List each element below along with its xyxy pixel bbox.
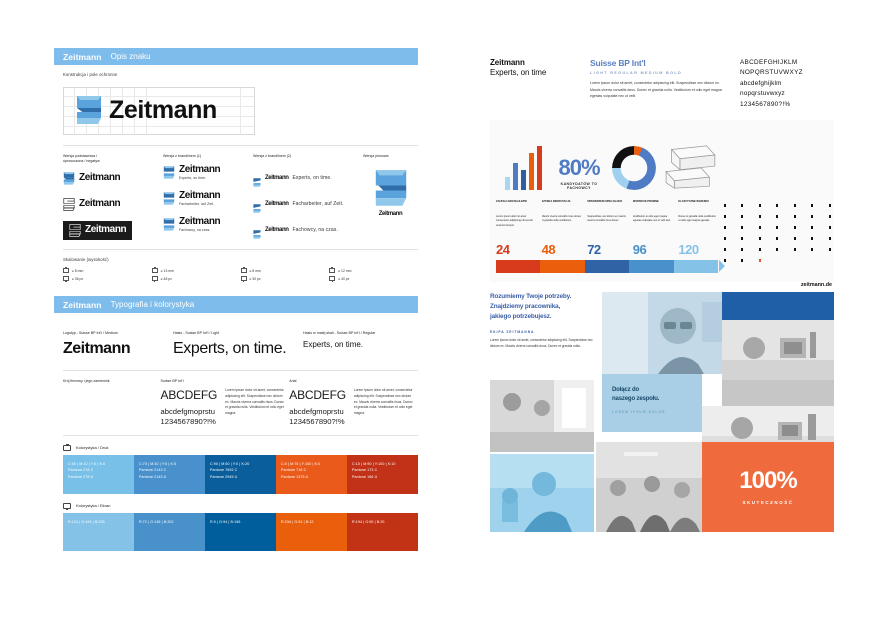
scaling-item: ≥ 12 mm ≥ 40 px [329, 268, 418, 284]
scaling-screen-value: ≥ 48 px [161, 277, 172, 281]
right-brand-block: Zeitmann Experts, on time [490, 58, 590, 120]
color-swatch-row-print: C:50 | M:10 | Y:0 | K:0 Pantone 278 C Pa… [63, 455, 418, 494]
cta-tile-join-team[interactable]: Dołącz do naszego zespołu. LOREM IPSUM D… [602, 374, 702, 432]
left-sheet: Zeitmann Opis znaku Konstrukcja i pole o… [54, 48, 418, 548]
swatch-rgb: R:72 | G:145 | B:202 [139, 519, 174, 526]
swatch-pantone-c: Pantone 173 C [352, 467, 413, 474]
swatch-pantone-u: Pantone 2143 U [139, 474, 200, 481]
z-mark-icon [163, 192, 175, 205]
z-mark-icon [163, 166, 175, 179]
band-title: Typografia i kolorystyka [111, 300, 195, 309]
brandline-tagline: Fachowcy, na czas. [179, 228, 220, 232]
swatch-pantone-u: Pantone 166 U [352, 474, 413, 481]
stat-body: Suspendisse nec dictum ex mauris viverra… [587, 215, 627, 243]
swatch-cmyk: C:70 | M:30 | Y:0 | K:5 [139, 461, 200, 468]
font-name: Arial [289, 379, 418, 383]
color-swatch-row-screen: R:134 | G:194 | B:235 R:72 | G:145 | B:2… [63, 513, 418, 551]
scaling-screen-value: ≥ 30 px [250, 277, 261, 281]
scaling-row: ≥ 8 mm ≥ 36 px ≥ 13 mm ≥ 48 px ≥ 8 mm ≥ … [63, 268, 418, 284]
headline-line-2: Znajdziemy pracownika, [490, 302, 598, 312]
infographic-panel: 80% KANDYDATÓW TO FACHOWCY [490, 120, 834, 282]
arrow-segment [674, 260, 718, 273]
font-specimens-label-col: Krój firmowy i jego zamiennik [63, 379, 161, 427]
photo-illustration [596, 442, 702, 532]
infographic-icons-row: 80% KANDYDATÓW TO FACHOWCY [490, 128, 724, 190]
photo-tile-coworking [490, 380, 594, 452]
colors-screen-header: Kolorystyka / Ekran [63, 503, 418, 509]
divider-1 [63, 145, 418, 146]
timeline-arrow-bar [496, 260, 718, 273]
photo-illustration [722, 320, 834, 406]
typography-sample-text: Zeitmann [63, 340, 173, 358]
font-glyph-block: ABCDEFG abcdefgmoprstu 1234567890?!% [289, 388, 346, 427]
brandline-tagline: Fachowcy, na czas. [292, 227, 337, 233]
photo-tile-blue-portrait [490, 454, 594, 532]
swatch-rgb: R:134 | G:194 | B:235 [68, 519, 105, 526]
variants-column-primary: Wersja podstawowa / uproszczona / negaty… [63, 154, 163, 243]
donut-chart [612, 146, 656, 190]
wordmark: Zeitmann [109, 98, 217, 123]
logo-construction-box: Zeitmann [63, 87, 255, 135]
color-swatch: C:0 | M:75 | Y:100 | K:0 Pantone 716 C P… [276, 455, 347, 494]
scaling-print: ≥ 8 mm [241, 268, 330, 273]
stat-tile-label: SKUTECZNOŚĆ [742, 500, 793, 505]
brandline-tagline: Facharbeiter, auf Zeit. [179, 202, 220, 206]
scaling-item: ≥ 8 mm ≥ 30 px [241, 268, 330, 284]
band-brand: Zeitmann [63, 52, 102, 62]
stat-heading: SPRAWDZENI SPECJALISCI [587, 200, 627, 212]
swatch-pantone-u: Pantone 2945 U [210, 474, 271, 481]
dot-grid [724, 204, 834, 262]
font-name: Suisse BP Int'l [161, 379, 290, 383]
website-url: zeitmann.de [801, 282, 832, 288]
typography-sample-claim-small: Hasło w małej skali - Suisse BP Int'l / … [303, 331, 413, 358]
stat-tile-value: 100% [739, 469, 796, 493]
wordmark: Zeitmann [265, 175, 288, 181]
right-brand-tagline: Experts, on time [490, 68, 590, 77]
font-body-sample: Lorem ipsum dolor sit amet, consectetur … [590, 80, 722, 100]
font-specimen-body: ABCDEFG abcdefgmoprstu 1234567890?!% Lor… [161, 388, 290, 427]
cta-subtext: LOREM IPSUM DOLOR [612, 410, 692, 414]
z-mark-icon [253, 226, 261, 235]
stat-number: 72 [587, 243, 627, 256]
alphabet-upper-2: NOPQRSTUVWXYZ [740, 68, 834, 78]
stat-item: WSPARCIE PRAWNE Vestibulum et odio eget … [633, 200, 673, 256]
swatch-cmyk: C:10 | M:90 | Y:100 | K:10 [352, 461, 413, 468]
cta-line-2: naszego zespołu. [612, 395, 692, 404]
z-mark-icon [253, 174, 261, 183]
wordmark: Zeitmann [179, 191, 220, 201]
scaling-screen-value: ≥ 40 px [338, 277, 349, 281]
monitor-icon [63, 503, 71, 509]
wordmark: Zeitmann [79, 173, 120, 183]
color-swatch: R:194 | G:50 | B:20 [347, 513, 418, 551]
vertical-lockup: Zeitmann [363, 169, 418, 217]
font-specimen-body: ABCDEFG abcdefgmoprstu 1234567890?!% Lor… [289, 388, 418, 427]
percent-value: 80% [551, 157, 606, 179]
color-swatch: R:72 | G:145 | B:202 [134, 513, 205, 551]
z-mark-icon [163, 218, 175, 231]
percent-stat-cell: 80% KANDYDATÓW TO FACHOWCY [551, 157, 606, 190]
stat-tile-100-percent: 100% SKUTECZNOŚĆ [702, 442, 834, 532]
arrow-segment [540, 260, 584, 273]
wordmark: Zeitmann [179, 217, 220, 227]
alphabet-digits: 1234567890?!% [740, 100, 834, 110]
layout-composition: Rozumiemy Twoje potrzeby. Znajdziemy pra… [490, 292, 834, 532]
z-wireframe-cell [662, 144, 718, 190]
stat-item: ZAUFALI NAM NAJLEPSI Lorem ipsum dolor s… [496, 200, 536, 256]
wordmark: Zeitmann [85, 225, 126, 235]
color-swatch: C:10 | M:90 | Y:100 | K:10 Pantone 173 C… [347, 455, 418, 494]
photo-tile-office-crowd [596, 442, 702, 532]
font-specimen-primary: Suisse BP Int'l ABCDEFG abcdefgmoprstu 1… [161, 379, 290, 427]
brandline-tagline: Facharbeiter, auf Zeit. [292, 201, 343, 207]
font-sample-paragraph: Lorem ipsum dolor sit amet, consectetur … [225, 388, 285, 427]
brand-guidelines-page: Zeitmann Opis znaku Konstrukcja i pole o… [0, 0, 884, 620]
print-icon [329, 268, 335, 273]
percent-stat: 80% KANDYDATÓW TO FACHOWCY [551, 157, 606, 190]
font-uppercase: ABCDEFG [289, 388, 346, 403]
stat-number: 96 [633, 243, 673, 256]
font-digits: 1234567890?!% [161, 417, 218, 427]
arrow-segment [629, 260, 673, 273]
photo-illustration [490, 380, 594, 452]
arrow-segment [496, 260, 540, 273]
scaling-print-value: ≥ 8 mm [250, 269, 261, 273]
alphabet-upper-1: ABCDEFGHIJKLM [740, 58, 834, 68]
screen-icon [329, 276, 335, 281]
logo-variant-row: Zeitmann Experts, on time. [163, 165, 253, 191]
headline-line-1: Rozumiemy Twoje potrzeby. [490, 292, 598, 302]
right-top-row: Zeitmann Experts, on time Suisse BP Int'… [490, 48, 834, 120]
negative-lockup: Zeitmann [63, 221, 132, 240]
photo-tile-woman-glasses [602, 292, 722, 374]
font-weights: LIGHT REGULAR MEDIUM BOLD [590, 71, 740, 75]
band-brand: Zeitmann [63, 300, 102, 310]
photo-tile-office-desk [722, 320, 834, 406]
stat-heading: SZYBKA REKRUTACJA [542, 200, 582, 212]
z-mark-outline-icon [69, 224, 81, 237]
stat-item: SPRAWDZENI SPECJALISCI Suspendisse nec d… [587, 200, 627, 256]
headline-kicker: EKIPA ZEITMANNA [490, 330, 598, 334]
stat-body: Vestibulum et odio eget magna egestas vu… [633, 215, 673, 243]
font-digits: 1234567890?!% [289, 417, 346, 427]
variants-column-brandline-2: Wersja z brandlinem (2) Zeitmann Experts… [253, 154, 363, 243]
z-mark-icon [253, 200, 261, 209]
alphabet-lower-2: nopqrstuvwxyz [740, 89, 834, 99]
typography-sample-text: Experts, on time. [303, 340, 413, 349]
stat-number: 120 [678, 243, 718, 256]
logo-variant-row: Zeitmann Experts, on time. [253, 165, 363, 191]
brandline-tagline: Experts, on time. [179, 176, 220, 180]
scaling-print-value: ≥ 13 mm [161, 269, 174, 273]
logo-variant-row: Zeitmann [63, 165, 163, 191]
scaling-print: ≥ 8 mm [63, 268, 152, 273]
photo-illustration [602, 292, 722, 374]
typography-sample-claim: Hasło - Suisse BP Int'l / Light Experts,… [173, 331, 303, 358]
variants-column-vertical: Wersja pionowa Zeitmann [363, 154, 418, 243]
right-font-block: Suisse BP Int'l LIGHT REGULAR MEDIUM BOL… [590, 58, 740, 120]
typography-label: Logotyp - Suisse BP Int'l / Medium [63, 331, 173, 335]
swatch-cmyk: C:50 | M:10 | Y:0 | K:0 [68, 461, 129, 468]
variants-column-header: Wersja z brandlinem (2) [253, 154, 363, 165]
variants-column-header: Wersja podstawowa / uproszczona / negaty… [63, 154, 163, 165]
swatch-pantone-c: Pantone 2143 C [139, 467, 200, 474]
logo-variant-row-outline: Zeitmann [63, 191, 163, 217]
swatch-rgb: R:0 | G:94 | B:156 [210, 519, 240, 526]
colors-screen-title: Kolorystyka / Ekran [76, 503, 110, 508]
swatch-pantone-c: Pantone 716 C [281, 467, 342, 474]
wordmark: Zeitmann [379, 211, 402, 217]
alphabet-specimen: ABCDEFGHIJKLM NOPQRSTUVWXYZ abcdefghijkl… [740, 58, 834, 120]
screen-icon [152, 276, 158, 281]
headline-line-3: jakiego potrzebujesz. [490, 312, 598, 322]
scaling-print-value: ≥ 8 mm [72, 269, 83, 273]
typography-sample-logotype: Logotyp - Suisse BP Int'l / Medium Zeitm… [63, 331, 173, 358]
font-lowercase: abcdefgmoprstu [289, 407, 346, 417]
scaling-screen: ≥ 36 px [63, 276, 152, 281]
scaling-screen: ≥ 30 px [241, 276, 330, 281]
swatch-rgb: R:234 | G:91 | B:12 [281, 519, 314, 526]
stat-number: 48 [542, 243, 582, 256]
z-wireframe-icon [662, 144, 718, 190]
cta-line-1: Dołącz do [612, 386, 692, 395]
color-swatch: C:50 | M:10 | Y:0 | K:0 Pantone 278 C Pa… [63, 455, 134, 494]
logo-variant-row: Zeitmann Facharbeiter, auf Zeit. [163, 191, 253, 217]
scaling-item: ≥ 8 mm ≥ 36 px [63, 268, 152, 284]
section-band-opis-znaku: Zeitmann Opis znaku [54, 48, 418, 65]
swatch-pantone-c: Pantone 7692 C [210, 467, 271, 474]
typography-sample-text: Experts, on time. [173, 340, 303, 358]
stat-item: SZYBKA REKRUTACJA Mauris viverra convall… [542, 200, 582, 256]
color-swatch: R:0 | G:94 | B:156 [205, 513, 276, 551]
z-mark-icon [76, 95, 102, 125]
typography-samples: Logotyp - Suisse BP Int'l / Medium Zeitm… [63, 331, 418, 358]
headline-body: Lorem ipsum dolor sit amet, consectetur … [490, 338, 598, 350]
stat-number: 24 [496, 243, 536, 256]
color-swatch: R:134 | G:194 | B:235 [63, 513, 134, 551]
font-title: Suisse BP Int'l [590, 58, 740, 68]
right-sheet: Zeitmann Experts, on time Suisse BP Int'… [490, 48, 834, 548]
logo-lockup: Zeitmann [76, 95, 217, 125]
wordmark: Zeitmann [265, 227, 288, 233]
stat-body: Lorem ipsum dolor sit amet consectetur a… [496, 215, 536, 243]
scaling-label: Skalowanie (wysokość) [63, 257, 418, 262]
swatch-rgb: R:194 | G:50 | B:20 [352, 519, 385, 526]
percent-label: KANDYDATÓW TO FACHOWCY [551, 182, 606, 190]
brandline-tagline: Experts, on time. [292, 175, 331, 181]
scaling-screen-value: ≥ 36 px [72, 277, 83, 281]
screen-icon [241, 276, 247, 281]
font-glyph-block: ABCDEFG abcdefgmoprstu 1234567890?!% [161, 388, 218, 427]
swatch-pantone-u: Pantone 278 U [68, 474, 129, 481]
font-uppercase: ABCDEFG [161, 388, 218, 403]
logo-variant-row: Zeitmann Facharbeiter, auf Zeit. [253, 191, 363, 217]
stat-body: Donec et gravida nulla vestibulum et odi… [678, 215, 718, 243]
print-icon [63, 268, 69, 273]
alphabet-lower-1: abcdefghijklm [740, 79, 834, 89]
color-swatch: C:90 | M:50 | Y:0 | K:20 Pantone 7692 C … [205, 455, 276, 494]
section-band-typografia: Zeitmann Typografia i kolorystyka [54, 296, 418, 313]
logo-variants-grid: Wersja podstawowa / uproszczona / negaty… [63, 154, 418, 243]
logo-variant-row: Zeitmann Fachowcy, na czas. [163, 217, 253, 243]
divider-4 [63, 435, 418, 436]
color-swatch: R:234 | G:91 | B:12 [276, 513, 347, 551]
logo-variant-row-negative: Zeitmann [63, 217, 163, 243]
colors-print-header: Kolorystyka / Druk [63, 445, 418, 451]
stat-body: Mauris viverra convallis risus donec et … [542, 215, 582, 243]
color-swatch: C:70 | M:30 | Y:0 | K:5 Pantone 2143 C P… [134, 455, 205, 494]
screen-icon [63, 276, 69, 281]
font-lowercase: abcdefgmoprstu [161, 407, 218, 417]
scaling-print: ≥ 13 mm [152, 268, 241, 273]
stat-heading: WSPARCIE PRAWNE [633, 200, 673, 212]
z-mark-icon [374, 169, 408, 207]
stat-heading: ELASTYCZNE WARUNKI [678, 200, 718, 212]
print-icon [152, 268, 158, 273]
scaling-screen: ≥ 40 px [329, 276, 418, 281]
photo-illustration [490, 454, 594, 532]
dot-pattern-panel: zeitmann.de [724, 204, 834, 288]
band-title: Opis znaku [111, 52, 151, 61]
swatch-pantone-c: Pantone 278 C [68, 467, 129, 474]
print-icon [241, 268, 247, 273]
typography-label: Hasło w małej skali - Suisse BP Int'l / … [303, 331, 413, 335]
bar-chart-cell [496, 144, 551, 190]
colors-print-title: Kolorystyka / Druk [76, 445, 108, 450]
right-brand-name: Zeitmann [490, 58, 590, 67]
variants-column-header: Wersja pionowa [363, 154, 418, 165]
swatch-pantone-u: Pantone 1375 U [281, 474, 342, 481]
printer-icon [63, 445, 71, 451]
divider-2 [63, 249, 418, 250]
swatch-cmyk: C:90 | M:50 | Y:0 | K:20 [210, 461, 271, 468]
wordmark: Zeitmann [79, 199, 120, 209]
logo-variant-row: Zeitmann Fachowcy, na czas. [253, 217, 363, 243]
stat-item: ELASTYCZNE WARUNKI Donec et gravida null… [678, 200, 718, 256]
stats-row: ZAUFALI NAM NAJLEPSI Lorem ipsum dolor s… [490, 190, 724, 256]
font-specimens: Krój firmowy i jego zamiennik Suisse BP … [63, 379, 418, 427]
swatch-cmyk: C:0 | M:75 | Y:100 | K:0 [281, 461, 342, 468]
wordmark: Zeitmann [179, 165, 220, 175]
accent-block-blue [722, 292, 834, 320]
wordmark: Zeitmann [265, 201, 288, 207]
scaling-print-value: ≥ 12 mm [338, 269, 351, 273]
headline-block: Rozumiemy Twoje potrzeby. Znajdziemy pra… [490, 292, 598, 350]
font-sample-paragraph: Lorem ipsum dolor sit amet, consectetur … [354, 388, 414, 427]
variants-column-brandline-1: Wersja z brandlinem (1) Zeitmann [163, 154, 253, 243]
arrow-segment [585, 260, 629, 273]
fonts-label: Krój firmowy i jego zamiennik [63, 379, 161, 383]
typography-label: Hasło - Suisse BP Int'l / Light [173, 331, 303, 335]
z-mark-outline-icon [63, 198, 75, 211]
donut-chart-cell [607, 146, 662, 190]
scaling-screen: ≥ 48 px [152, 276, 241, 281]
scaling-print: ≥ 12 mm [329, 268, 418, 273]
divider-3 [63, 370, 418, 371]
bar-chart [505, 144, 542, 190]
construction-label: Konstrukcja i pole ochronne [63, 72, 418, 77]
z-mark-icon [63, 172, 75, 185]
font-specimen-fallback: Arial ABCDEFG abcdefgmoprstu 1234567890?… [289, 379, 418, 427]
stat-heading: ZAUFALI NAM NAJLEPSI [496, 200, 536, 212]
scaling-item: ≥ 13 mm ≥ 48 px [152, 268, 241, 284]
